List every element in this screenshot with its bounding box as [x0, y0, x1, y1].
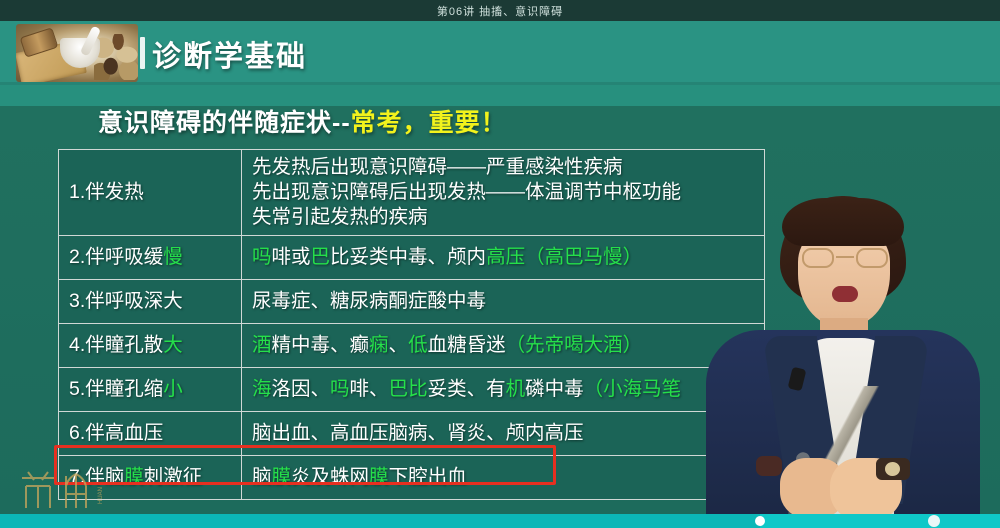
detail-highlight: 高压 [486, 246, 525, 268]
symptom-cell: 3.伴呼吸深大 [59, 280, 242, 324]
symptom-text: 2.伴呼吸缓 [69, 246, 163, 268]
video-progress-bar[interactable] [0, 514, 1000, 528]
detail-highlight: 海 [252, 378, 272, 400]
detail-highlight: 巴比 [389, 378, 428, 400]
detail-line: 先发热后出现意识障碍——严重感染性疾病 [252, 155, 756, 180]
detail-text: 、 [389, 334, 409, 356]
detail-highlight: （小海马笔 [584, 378, 682, 400]
detail-highlight: 巴 [311, 246, 331, 268]
presenter-mouth [832, 286, 858, 302]
detail-highlight: 机 [506, 378, 526, 400]
subtitle-yellow-text: 常考，重要！ [351, 109, 507, 137]
detail-highlight: 膜 [272, 466, 292, 488]
detail-text: 精中毒、癫 [272, 334, 370, 356]
symptom-cell: 4.伴瞳孔散大 [59, 324, 242, 368]
detail-text: 脑出血、高血压脑病、肾炎、颅内高压 [252, 422, 584, 444]
symptom-text: 4.伴瞳孔散 [69, 334, 163, 356]
detail-text: 下腔出血 [389, 466, 467, 488]
presenter-fringe [782, 198, 904, 246]
detail-highlight: （高巴马慢） [525, 246, 642, 268]
table-row: 5.伴瞳孔缩小 海洛因、吗啡、巴比妥类、有机磷中毒（小海马笔 [59, 368, 765, 412]
herb-pile-shape [94, 34, 138, 80]
symptom-text: 5.伴瞳孔缩 [69, 378, 163, 400]
presenter-bracelet [756, 456, 782, 476]
table-row-highlighted: 7.伴脑膜刺激征 脑膜炎及蛛网膜下腔出血 [59, 456, 765, 500]
progress-marker[interactable] [928, 515, 940, 527]
detail-text: 脑 [252, 466, 272, 488]
lecture-label: 第06讲 抽搐、意识障碍 [437, 3, 563, 19]
detail-highlight: 吗 [252, 246, 272, 268]
symptom-highlight: 大 [163, 334, 183, 356]
symptom-highlight: 小 [163, 378, 183, 400]
detail-text: 刺激征 [144, 466, 203, 488]
glasses-lens-left [802, 248, 834, 268]
table-row: 3.伴呼吸深大 尿毒症、糖尿病酮症酸中毒 [59, 280, 765, 324]
detail-highlight: 吗 [330, 378, 350, 400]
detail-text: 血糖昏迷 [428, 334, 506, 356]
symptom-cell: 5.伴瞳孔缩小 [59, 368, 242, 412]
presenter-glasses [802, 248, 888, 268]
glasses-lens-right [856, 248, 888, 268]
watermark-icon: HUAN [14, 464, 134, 512]
detail-text: 啡或 [272, 246, 311, 268]
table-row: 4.伴瞳孔散大 酒精中毒、癫痫、低血糖昏迷（先帝喝大酒） [59, 324, 765, 368]
detail-text: 尿毒症、糖尿病酮症酸中毒 [252, 290, 486, 312]
symptom-cell: 2.伴呼吸缓慢 [59, 236, 242, 280]
detail-highlight: 酒 [252, 334, 272, 356]
detail-highlight: （先帝喝大酒） [506, 334, 643, 356]
title-accent-bar [140, 37, 145, 69]
svg-text:HUAN: HUAN [98, 487, 104, 504]
glasses-bridge [836, 256, 854, 258]
brand-watermark: HUAN [14, 464, 134, 512]
symptom-highlight: 慢 [163, 246, 183, 268]
symptom-table: 1.伴发热 先发热后出现意识障碍——严重感染性疾病 先出现意识障碍后出现发热——… [58, 149, 765, 500]
detail-text: 磷中毒 [525, 378, 584, 400]
detail-text: 炎及蛛网 [291, 466, 369, 488]
page-title-text: 诊断学基础 [152, 41, 307, 73]
progress-knob[interactable] [755, 516, 765, 526]
symptom-cell: 1.伴发热 [59, 150, 242, 236]
herb-mortar-image [16, 24, 138, 82]
detail-highlight: 膜 [369, 466, 389, 488]
table-row: 6.伴高血压 脑出血、高血压脑病、肾炎、颅内高压 [59, 412, 765, 456]
slide-header-band [0, 21, 1000, 85]
page-title: 诊断学基础 [152, 33, 307, 75]
symptom-cell: 6.伴高血压 [59, 412, 242, 456]
table-row: 1.伴发热 先发热后出现意识障碍——严重感染性疾病 先出现意识障碍后出现发热——… [59, 150, 765, 236]
detail-highlight: 痫 [369, 334, 389, 356]
detail-text: 洛因、 [272, 378, 331, 400]
detail-highlight: 低 [408, 334, 428, 356]
slide-subtitle: 意识障碍的伴随症状--常考，重要！ [98, 103, 507, 139]
presenter-watch [876, 458, 910, 480]
table-row: 2.伴呼吸缓慢 吗啡或巴比妥类中毒、颅内高压（高巴马慢） [59, 236, 765, 280]
symptom-table-body: 1.伴发热 先发热后出现意识障碍——严重感染性疾病 先出现意识障碍后出现发热——… [59, 150, 765, 500]
subtitle-white-text: 意识障碍的伴随症状-- [98, 109, 351, 137]
detail-text: 啡、 [350, 378, 389, 400]
detail-text: 比妥类中毒、颅内 [330, 246, 486, 268]
detail-text: 妥类、有 [428, 378, 506, 400]
lecture-topbar: 第06讲 抽搐、意识障碍 [0, 0, 1000, 21]
progress-played [0, 514, 760, 528]
presenter-video-overlay [680, 190, 1000, 528]
